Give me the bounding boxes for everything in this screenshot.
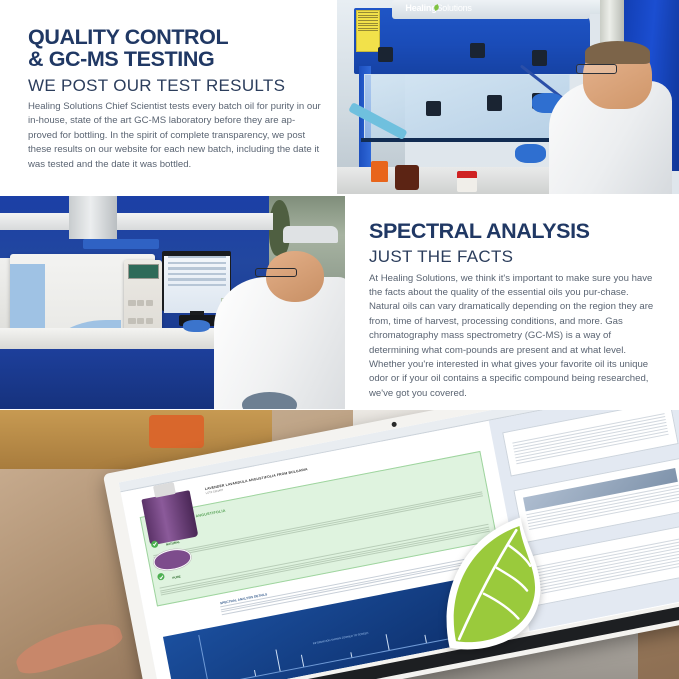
quality-control-heading: QUALITY CONTROL & GC-MS TESTING [28, 26, 324, 71]
safety-glasses-icon-2 [255, 268, 296, 277]
quality-control-subheading: WE POST OUR TEST RESULTS [28, 75, 324, 96]
chart-y-axis [198, 636, 208, 679]
orange-object [149, 415, 203, 447]
photo-tablet-report: LAVENDER LAVANDULA ANGUSTIFOLIA FROM BUL… [0, 410, 679, 679]
heading-line-2: & GC-MS TESTING [28, 48, 324, 70]
safety-glasses-icon [576, 64, 617, 74]
orange-cap-bottle [371, 161, 388, 182]
hood-brand-light: Solutions [437, 3, 472, 13]
heading-line-1: SPECTRAL ANALYSIS [369, 220, 659, 242]
section-quality-control: QUALITY CONTROL & GC-MS TESTING WE POST … [28, 26, 324, 172]
chart-caption: INFORMATION SHOWN ZOOMED TO SCREEN [313, 632, 369, 646]
parked-car [283, 226, 338, 243]
gc-lcd-display [128, 264, 159, 279]
yellow-warning-label [356, 10, 380, 53]
dark-bottle [395, 165, 419, 190]
gloved-hand-keyboard [183, 320, 211, 333]
lab-stool [242, 392, 297, 409]
red-cap-bottle [457, 171, 478, 192]
spectral-analysis-heading: SPECTRAL ANALYSIS [369, 220, 659, 242]
sash-grip-1 [426, 101, 441, 117]
hood-brand-bold: Healing [405, 3, 436, 13]
quality-control-body: Healing Solutions Chief Scientist tests … [28, 100, 324, 172]
hood-knob-mid [470, 43, 485, 59]
photo-gcms-bench [0, 196, 345, 409]
spectral-analysis-body: At Healing Solutions, we think it's impo… [369, 272, 659, 402]
check-circle-icon [157, 573, 165, 581]
overhead-shelf [0, 213, 273, 230]
leaf-logo [387, 512, 611, 652]
spectral-analysis-subheading: JUST THE FACTS [369, 246, 659, 267]
marketing-infographic-page: HealingSolutions [0, 0, 679, 679]
oil-bottle-image [142, 490, 199, 546]
tablet-camera-icon [391, 421, 397, 427]
hood-knob-left [378, 47, 393, 63]
exhaust-duct [69, 196, 117, 239]
section-spectral-analysis: SPECTRAL ANALYSIS JUST THE FACTS At Heal… [369, 220, 659, 401]
hood-sash-bar [361, 138, 573, 142]
result-pure-label: PURE [172, 575, 181, 581]
chart-peak [350, 653, 352, 658]
scientist-head-2 [266, 251, 325, 302]
gloved-hand-right [515, 144, 546, 163]
sash-grip-2 [487, 95, 502, 111]
gc-inlet-tray [83, 239, 159, 250]
hood-knob-right [532, 50, 547, 66]
scientist-hair [585, 41, 650, 64]
chart-peak [254, 670, 256, 677]
chart-peak [275, 650, 280, 672]
photo-fume-hood-lab: HealingSolutions [337, 0, 679, 194]
heading-line-1: QUALITY CONTROL [28, 26, 324, 48]
